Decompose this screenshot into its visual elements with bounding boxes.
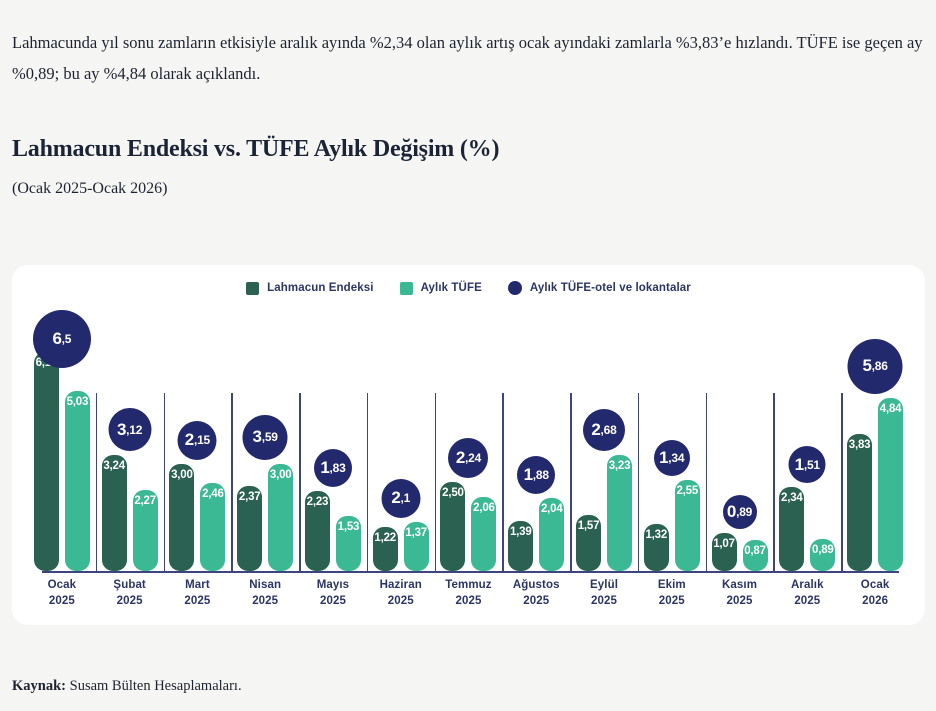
x-axis-tick: Haziran2025 xyxy=(367,577,435,621)
bubble-value-fraction: ,68 xyxy=(601,423,617,437)
bar-tufe[interactable]: 2,55 xyxy=(675,480,700,571)
bubble-value-fraction: ,51 xyxy=(804,458,820,472)
bar-value-label: 2,23 xyxy=(307,496,329,508)
bar-group: 2,340,891,51 xyxy=(773,310,841,571)
bubble-value-integer: 2 xyxy=(391,488,400,508)
page-subtitle: (Ocak 2025-Ocak 2026) xyxy=(12,180,168,198)
x-axis-tick-month: Ocak xyxy=(48,579,77,591)
x-axis-baseline xyxy=(42,571,899,573)
x-axis-tick-month: Temmuz xyxy=(445,579,491,591)
bar-tufe[interactable]: 2,27 xyxy=(133,490,158,571)
bar-value-label: 2,04 xyxy=(541,503,563,515)
bar-value-label: 2,27 xyxy=(134,495,156,507)
bar-group: 3,002,462,15 xyxy=(164,310,232,571)
bubble-otel-lokantalar[interactable]: 2,24 xyxy=(448,438,488,478)
x-axis-tick: Ocak2025 xyxy=(28,577,96,621)
bubble-otel-lokantalar[interactable]: 5,86 xyxy=(848,339,903,394)
bubble-value-fraction: ,12 xyxy=(126,423,142,437)
bubble-value-fraction: ,83 xyxy=(329,461,345,475)
bubble-otel-lokantalar[interactable]: 1,34 xyxy=(654,440,690,476)
x-axis-tick-year: 2025 xyxy=(570,593,638,609)
x-axis-tick-month: Ekim xyxy=(658,579,686,591)
bar-tufe[interactable]: 2,04 xyxy=(539,498,564,571)
bar-value-label: 5,03 xyxy=(67,396,89,408)
x-axis-tick-month: Mayıs xyxy=(317,579,349,591)
bar-group: 6,125,036,5 xyxy=(28,310,96,571)
bar-value-label: 2,06 xyxy=(473,502,495,514)
x-axis-tick: Ocak2026 xyxy=(841,577,909,621)
bar-tufe[interactable]: 3,23 xyxy=(607,455,632,571)
bar-group: 3,834,845,86 xyxy=(841,310,909,571)
legend-item-label: Aylık TÜFE-otel ve lokantalar xyxy=(530,282,691,294)
x-axis-tick-month: Eylül xyxy=(590,579,618,591)
chart-plot-area: 6,125,036,53,242,273,123,002,462,152,373… xyxy=(28,310,909,573)
bubble-value-fraction: ,34 xyxy=(668,451,684,465)
bubble-value-fraction: ,89 xyxy=(736,505,752,519)
bar-value-label: 0,89 xyxy=(812,544,834,556)
bubble-value-fraction: ,59 xyxy=(262,430,278,444)
bar-lahmacun[interactable]: 1,39 xyxy=(508,521,533,571)
x-axis-tick: Nisan2025 xyxy=(231,577,299,621)
x-axis-tick-year: 2025 xyxy=(502,593,570,609)
bubble-value-integer: 1 xyxy=(795,455,804,475)
bar-value-label: 3,00 xyxy=(270,469,292,481)
bubble-value-fraction: ,24 xyxy=(465,451,481,465)
bar-value-label: 3,83 xyxy=(849,439,871,451)
bars-container: 2,231,53 xyxy=(299,310,367,571)
bar-value-label: 1,22 xyxy=(374,532,396,544)
legend-square-icon xyxy=(246,282,259,295)
bars-container: 1,392,04 xyxy=(502,310,570,571)
bubble-value-fraction: ,1 xyxy=(400,491,410,505)
bubble-otel-lokantalar[interactable]: 1,88 xyxy=(517,456,555,494)
x-axis-tick-month: Mart xyxy=(185,579,210,591)
bars-container: 2,340,89 xyxy=(773,310,841,571)
bar-lahmacun[interactable]: 2,34 xyxy=(779,487,804,571)
bubble-value-integer: 5 xyxy=(862,356,871,376)
bar-value-label: 2,50 xyxy=(442,487,464,499)
bar-value-label: 2,37 xyxy=(239,491,261,503)
legend-item[interactable]: Lahmacun Endeksi xyxy=(246,282,373,295)
bar-group: 1,322,551,34 xyxy=(638,310,706,571)
legend-item[interactable]: Aylık TÜFE xyxy=(400,282,482,295)
bar-group: 1,070,870,89 xyxy=(706,310,774,571)
bar-lahmacun[interactable]: 3,00 xyxy=(169,464,194,571)
source-note: Kaynak: Susam Bülten Hesaplamaları. xyxy=(12,678,242,695)
x-axis-tick-year: 2025 xyxy=(28,593,96,609)
x-axis-tick-year: 2025 xyxy=(706,593,774,609)
bar-lahmacun[interactable]: 1,57 xyxy=(576,515,601,571)
bar-value-label: 1,39 xyxy=(510,526,532,538)
x-axis-tick-year: 2026 xyxy=(841,593,909,609)
bar-value-label: 2,55 xyxy=(676,485,698,497)
bar-group: 3,242,273,12 xyxy=(96,310,164,571)
bar-group: 2,373,003,59 xyxy=(231,310,299,571)
bubble-otel-lokantalar[interactable]: 2,1 xyxy=(381,479,420,518)
bar-lahmacun[interactable]: 6,12 xyxy=(34,352,59,571)
x-axis-tick-year: 2025 xyxy=(773,593,841,609)
x-axis-tick-month: Aralık xyxy=(791,579,824,591)
x-axis-tick-month: Haziran xyxy=(380,579,422,591)
bubble-otel-lokantalar[interactable]: 3,12 xyxy=(108,408,151,451)
source-label: Kaynak: xyxy=(12,678,66,694)
bar-group: 2,502,062,24 xyxy=(435,310,503,571)
legend-item-label: Lahmacun Endeksi xyxy=(267,282,373,294)
bar-groups: 6,125,036,53,242,273,123,002,462,152,373… xyxy=(28,310,909,571)
source-text: Susam Bülten Hesaplamaları. xyxy=(70,678,242,694)
x-axis-tick: Ekim2025 xyxy=(638,577,706,621)
legend-square-icon xyxy=(400,282,413,295)
legend-item[interactable]: Aylık TÜFE-otel ve lokantalar xyxy=(508,281,691,295)
x-axis-tick-year: 2025 xyxy=(638,593,706,609)
bubble-value-fraction: ,88 xyxy=(533,468,549,482)
bubble-otel-lokantalar[interactable]: 6,5 xyxy=(33,310,91,368)
bubble-otel-lokantalar[interactable]: 2,68 xyxy=(583,409,625,451)
bar-value-label: 3,24 xyxy=(103,460,125,472)
bubble-value-integer: 0 xyxy=(727,502,736,522)
x-axis-tick: Temmuz2025 xyxy=(435,577,503,621)
bar-lahmacun[interactable]: 3,24 xyxy=(102,455,127,571)
x-axis-tick-month: Kasım xyxy=(722,579,757,591)
bar-lahmacun[interactable]: 2,50 xyxy=(440,482,465,571)
bar-tufe[interactable]: 0,87 xyxy=(743,540,768,571)
bubble-value-integer: 2 xyxy=(591,420,600,440)
bar-tufe[interactable]: 5,03 xyxy=(65,391,90,571)
bar-value-label: 0,87 xyxy=(744,545,766,557)
bar-value-label: 3,23 xyxy=(609,460,631,472)
bar-value-label: 1,37 xyxy=(405,527,427,539)
bubble-value-fraction: ,15 xyxy=(194,433,210,447)
bubble-otel-lokantalar[interactable]: 2,15 xyxy=(178,421,217,460)
x-axis-tick: Mart2025 xyxy=(164,577,232,621)
bar-tufe[interactable]: 1,53 xyxy=(336,516,361,571)
bar-lahmacun[interactable]: 1,32 xyxy=(644,524,669,571)
bar-lahmacun[interactable]: 3,83 xyxy=(847,434,872,571)
bar-tufe[interactable]: 1,37 xyxy=(404,522,429,571)
x-axis-tick: Mayıs2025 xyxy=(299,577,367,621)
bubble-value-fraction: ,86 xyxy=(872,359,888,373)
x-axis-tick-year: 2025 xyxy=(299,593,367,609)
bar-value-label: 1,07 xyxy=(713,538,735,550)
x-axis-tick: Kasım2025 xyxy=(706,577,774,621)
bar-value-label: 4,84 xyxy=(880,403,902,415)
bubble-value-integer: 1 xyxy=(659,448,668,468)
bar-value-label: 1,57 xyxy=(578,520,600,532)
x-axis-tick: Ağustos2025 xyxy=(502,577,570,621)
bar-lahmacun[interactable]: 1,07 xyxy=(712,533,737,571)
bubble-value-integer: 3 xyxy=(253,427,262,447)
x-axis-tick-year: 2025 xyxy=(164,593,232,609)
bar-tufe[interactable]: 3,00 xyxy=(268,464,293,571)
bar-group: 1,221,372,1 xyxy=(367,310,435,571)
bar-lahmacun[interactable]: 2,23 xyxy=(305,491,330,571)
legend-circle-icon xyxy=(508,281,522,295)
chart-legend: Lahmacun EndeksiAylık TÜFEAylık TÜFE-ote… xyxy=(12,281,925,295)
x-axis-labels: Ocak2025Şubat2025Mart2025Nisan2025Mayıs2… xyxy=(28,577,909,621)
x-axis-tick-month: Şubat xyxy=(113,579,145,591)
bubble-otel-lokantalar[interactable]: 1,83 xyxy=(314,449,352,487)
bar-group: 2,231,531,83 xyxy=(299,310,367,571)
x-axis-tick: Şubat2025 xyxy=(96,577,164,621)
x-axis-tick: Eylül2025 xyxy=(570,577,638,621)
bubble-otel-lokantalar[interactable]: 3,59 xyxy=(243,415,288,460)
bar-value-label: 1,32 xyxy=(645,529,667,541)
bar-tufe[interactable]: 4,84 xyxy=(878,398,903,571)
page-title: Lahmacun Endeksi vs. TÜFE Aylık Değişim … xyxy=(12,136,499,163)
bar-tufe[interactable]: 2,06 xyxy=(471,497,496,571)
bar-lahmacun[interactable]: 1,22 xyxy=(373,527,398,571)
chart-card: Lahmacun EndeksiAylık TÜFEAylık TÜFE-ote… xyxy=(12,265,925,625)
x-axis-tick-month: Nisan xyxy=(249,579,281,591)
bubble-value-integer: 1 xyxy=(524,465,533,485)
bubble-value-integer: 2 xyxy=(185,430,194,450)
bubble-otel-lokantalar[interactable]: 0,89 xyxy=(723,495,757,529)
bars-container: 1,221,37 xyxy=(367,310,435,571)
bar-value-label: 1,53 xyxy=(338,521,360,533)
x-axis-tick-year: 2025 xyxy=(96,593,164,609)
bar-group: 1,573,232,68 xyxy=(570,310,638,571)
bubble-value-fraction: ,5 xyxy=(62,332,72,346)
bar-group: 1,392,041,88 xyxy=(502,310,570,571)
bubble-value-integer: 2 xyxy=(456,448,465,468)
x-axis-tick: Aralık2025 xyxy=(773,577,841,621)
legend-item-label: Aylık TÜFE xyxy=(421,282,482,294)
bar-tufe[interactable]: 2,46 xyxy=(200,483,225,571)
bubble-value-integer: 3 xyxy=(117,420,126,440)
intro-paragraph: Lahmacunda yıl sonu zamların etkisiyle a… xyxy=(12,27,928,89)
bars-container: 1,070,87 xyxy=(706,310,774,571)
bubble-value-integer: 1 xyxy=(320,458,329,478)
bar-value-label: 3,00 xyxy=(171,469,193,481)
bar-tufe[interactable]: 0,89 xyxy=(810,539,835,571)
bar-lahmacun[interactable]: 2,37 xyxy=(237,486,262,571)
x-axis-tick-year: 2025 xyxy=(367,593,435,609)
x-axis-tick-month: Ocak xyxy=(861,579,890,591)
x-axis-tick-month: Ağustos xyxy=(513,579,560,591)
bubble-value-integer: 6 xyxy=(52,329,61,349)
bar-value-label: 2,46 xyxy=(202,488,224,500)
x-axis-tick-year: 2025 xyxy=(435,593,503,609)
bar-value-label: 2,34 xyxy=(781,492,803,504)
x-axis-tick-year: 2025 xyxy=(231,593,299,609)
bubble-otel-lokantalar[interactable]: 1,51 xyxy=(789,446,826,483)
